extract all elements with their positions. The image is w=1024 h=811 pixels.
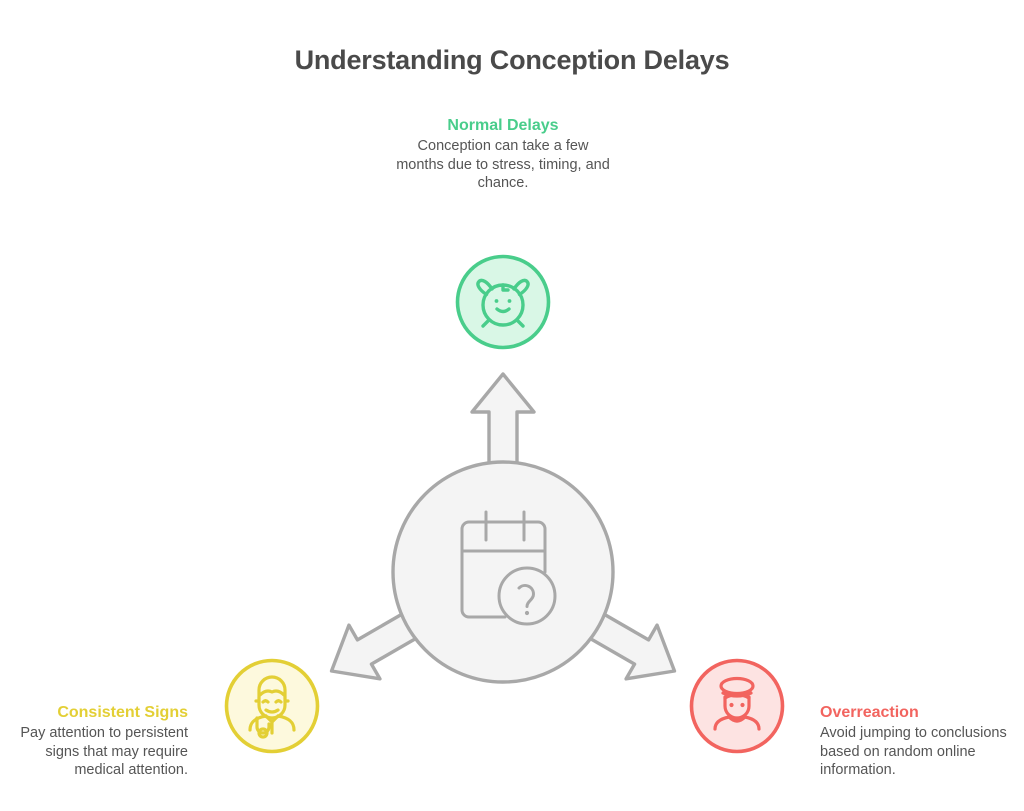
diagram-stage: Normal Delays Conception can take a few … (0, 0, 1024, 811)
label-overreaction: Overreaction Avoid jumping to conclusion… (820, 702, 1016, 780)
overreaction-circle[interactable] (692, 661, 783, 752)
normal-delays-circle[interactable] (458, 257, 549, 348)
label-consistent-signs: Consistent Signs Pay attention to persis… (12, 702, 188, 780)
consistent-signs-heading: Consistent Signs (12, 702, 188, 723)
label-normal-delays: Normal Delays Conception can take a few … (392, 115, 614, 193)
consistent-signs-description: Pay attention to persistent signs that m… (12, 724, 188, 780)
node-icon-normal-delays[interactable] (448, 247, 558, 357)
central-hub-circle (393, 462, 613, 682)
node-icon-consistent-signs[interactable] (217, 651, 327, 761)
node-icon-overreaction[interactable] (682, 651, 792, 761)
overreaction-description: Avoid jumping to conclusions based on ra… (820, 724, 1016, 780)
overreaction-heading: Overreaction (820, 702, 1016, 723)
infographic-canvas: Understanding Conception Delays (0, 0, 1024, 811)
normal-delays-description: Conception can take a few months due to … (392, 137, 614, 193)
consistent-signs-circle[interactable] (227, 661, 318, 752)
normal-delays-heading: Normal Delays (392, 115, 614, 136)
